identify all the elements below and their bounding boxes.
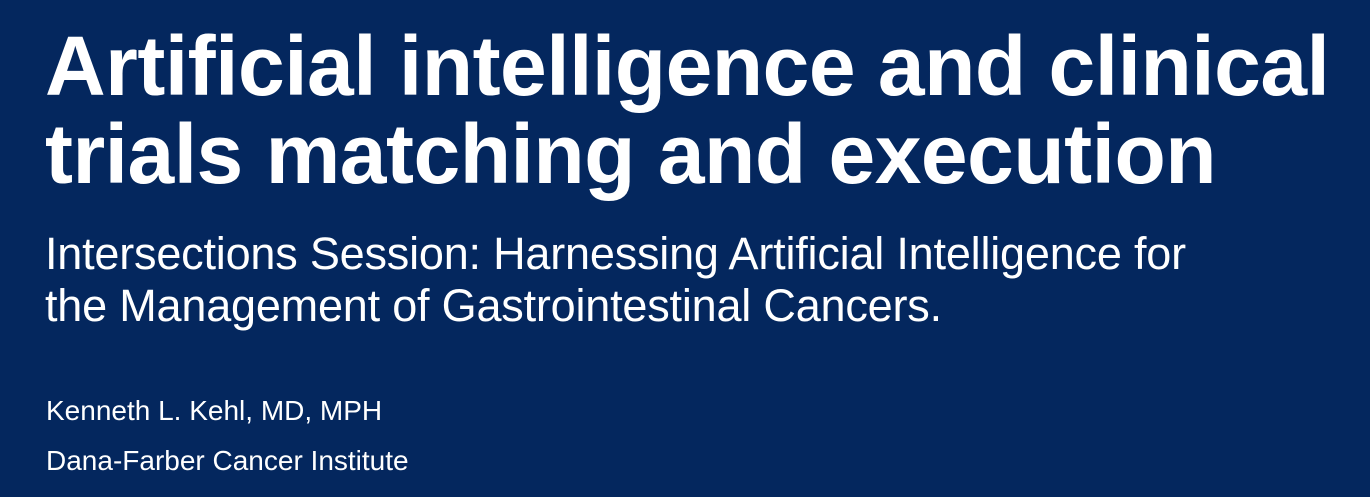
presenter-name: Kenneth L. Kehl, MD, MPH (46, 386, 946, 436)
presenter-affiliation: Dana-Farber Cancer Institute (46, 436, 946, 486)
presenter-block: Kenneth L. Kehl, MD, MPH Dana-Farber Can… (46, 386, 946, 486)
title-slide: Artificial intelligence and clinical tri… (0, 0, 1370, 497)
slide-subtitle: Intersections Session: Harnessing Artifi… (45, 228, 1245, 332)
title-block: Artificial intelligence and clinical tri… (45, 22, 1345, 198)
subtitle-block: Intersections Session: Harnessing Artifi… (45, 228, 1245, 332)
page-title: Artificial intelligence and clinical tri… (45, 22, 1345, 198)
